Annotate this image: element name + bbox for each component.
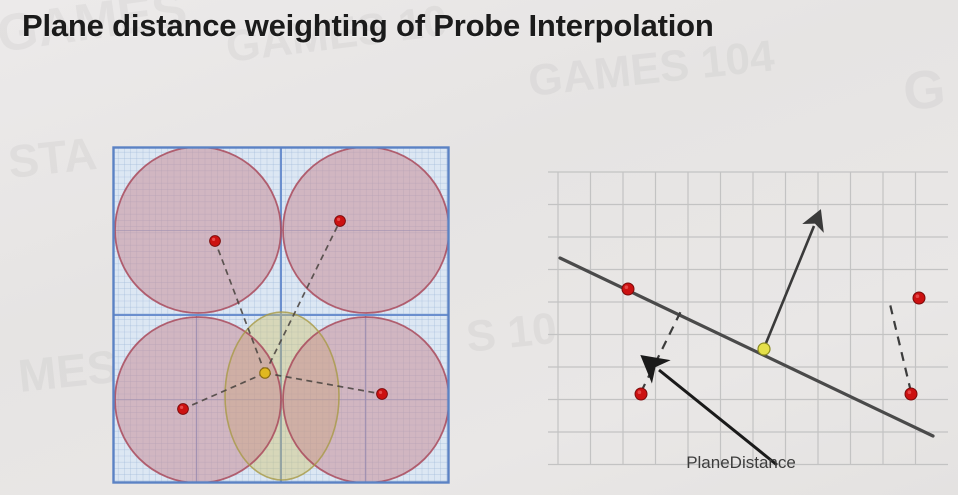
watermark-text-6: MES: [16, 340, 121, 402]
watermark-text-4: STA: [6, 127, 100, 188]
probe-dot-top-left[interactable]: [210, 236, 221, 247]
plane-grid-lines: [548, 172, 948, 465]
probe-dot-upper-left[interactable]: [622, 283, 634, 295]
plane-line-group: [560, 258, 933, 436]
page-title: Plane distance weighting of Probe Interp…: [22, 8, 714, 44]
slide-root: GAMESGAMES 10GAMES 104GSTAS 10MES Plane …: [0, 0, 958, 495]
probe-dot-upper-right-highlight: [916, 294, 920, 298]
plane-dots-group: [622, 283, 925, 400]
watermark-text-5: S 10: [464, 304, 559, 362]
probe-dot-lower-left[interactable]: [635, 388, 647, 400]
probe-dot-lower-left-highlight: [638, 390, 642, 394]
probe-dot-bottom-left[interactable]: [178, 404, 189, 415]
plane-distance-dashed-left: [641, 309, 682, 392]
probe-dot-upper-left-highlight: [625, 285, 629, 289]
plane-distance-caption: PlaneDistance: [686, 453, 796, 472]
probe-circle-bottom-left: [115, 317, 281, 483]
callout-group: [659, 370, 777, 465]
interpolated-sample-point[interactable]: [260, 368, 270, 378]
probe-dot-lower-right[interactable]: [905, 388, 917, 400]
plane-normal-group: [764, 226, 814, 348]
plane-distance-dashed-right: [889, 300, 911, 392]
plane-distance-figure: PlaneDistance: [548, 168, 948, 488]
probe-circle-top-right: [283, 147, 449, 313]
plane-distance-svg: PlaneDistance: [548, 168, 948, 488]
probe-grid-svg: [112, 146, 450, 484]
probe-dot-bottom-right-highlight: [379, 391, 382, 394]
plane-sample-point[interactable]: [758, 343, 770, 355]
probe-circle-bottom-right: [283, 317, 449, 483]
plane-line: [560, 258, 933, 436]
plane-normal-arrow: [764, 226, 814, 348]
probe-dot-lower-right-highlight: [908, 390, 912, 394]
probe-dot-upper-right[interactable]: [913, 292, 925, 304]
probe-dot-bottom-right[interactable]: [377, 389, 388, 400]
watermark-text-3: G: [901, 59, 948, 122]
probe-dot-bottom-left-highlight: [180, 406, 183, 409]
probe-dot-top-right-highlight: [337, 218, 340, 221]
probe-dot-top-right[interactable]: [335, 216, 346, 227]
probe-interpolation-figure: [112, 146, 450, 484]
plane-distance-callout-arrow: [659, 370, 777, 465]
probe-dot-top-left-highlight: [212, 238, 215, 241]
plane-distance-dashed-group: [641, 300, 911, 392]
probe-circle-top-left: [115, 147, 281, 313]
